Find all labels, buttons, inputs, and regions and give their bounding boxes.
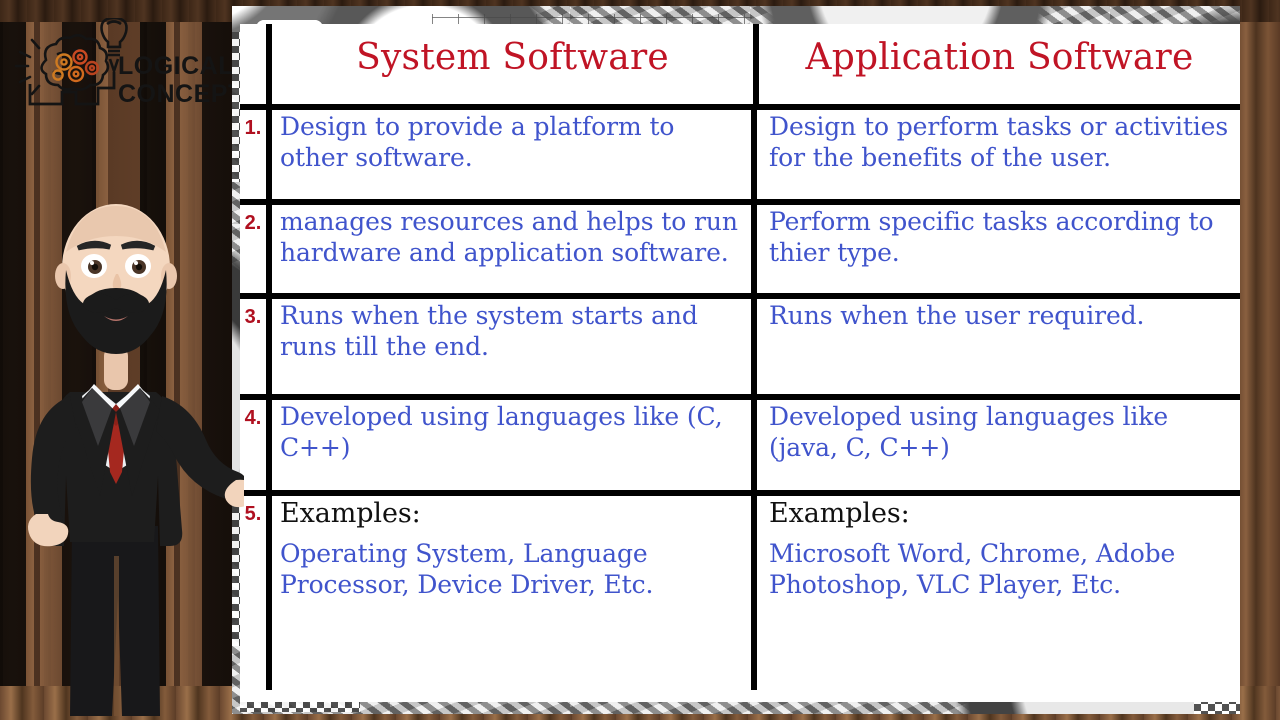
row-number: 4. [240, 400, 272, 490]
slide-stage: you are art System Software Application … [0, 0, 1280, 720]
brand-line1: LOGICAL [118, 52, 232, 80]
cell-application-examples: Examples: Microsoft Word, Chrome, Adobe … [751, 496, 1240, 690]
row-number: 3. [240, 299, 272, 394]
table-row: 5. Examples: Operating System, Language … [240, 490, 1240, 690]
wood-right-panels [1238, 0, 1280, 720]
cell-application: Developed using languages like (java, C,… [751, 400, 1240, 490]
column-header-system-software: System Software [272, 24, 753, 104]
brand-logo: LOGICAL CONCEPT [6, 18, 232, 122]
row-number: 1. [240, 110, 272, 199]
brand-line2: CONCEPT [118, 80, 232, 108]
table-header-row: System Software Application Software [240, 24, 1240, 104]
table-row: 3. Runs when the system starts and runs … [240, 293, 1240, 394]
row-number: 2. [240, 205, 272, 293]
header-number-cell [240, 24, 272, 104]
examples-list-system: Operating System, Language Processor, De… [280, 539, 745, 600]
examples-list-application: Microsoft Word, Chrome, Adobe Photoshop,… [769, 539, 1234, 600]
cell-system-examples: Examples: Operating System, Language Pro… [272, 496, 751, 690]
cell-application: Design to perform tasks or activities fo… [751, 110, 1240, 199]
presenter-avatar [8, 196, 244, 720]
cell-system: Design to provide a platform to other so… [272, 110, 751, 199]
table-row: 1. Design to provide a platform to other… [240, 104, 1240, 199]
cell-system: Runs when the system starts and runs til… [272, 299, 751, 394]
table-row: 2. manages resources and helps to run ha… [240, 199, 1240, 293]
cell-system: Developed using languages like (C, C++) [272, 400, 751, 490]
eyebrow-left [78, 243, 110, 248]
examples-label: Examples: [769, 498, 1234, 529]
column-header-application-software: Application Software [753, 24, 1240, 104]
row-number: 5. [240, 496, 272, 690]
cell-application: Runs when the user required. [751, 299, 1240, 394]
cell-system: manages resources and helps to run hardw… [272, 205, 751, 293]
eyebrow-right [122, 243, 154, 248]
comparison-table: System Software Application Software 1. … [240, 24, 1240, 702]
cell-application: Perform specific tasks according to thie… [751, 205, 1240, 293]
table-row: 4. Developed using languages like (C, C+… [240, 394, 1240, 490]
examples-label: Examples: [280, 498, 745, 529]
